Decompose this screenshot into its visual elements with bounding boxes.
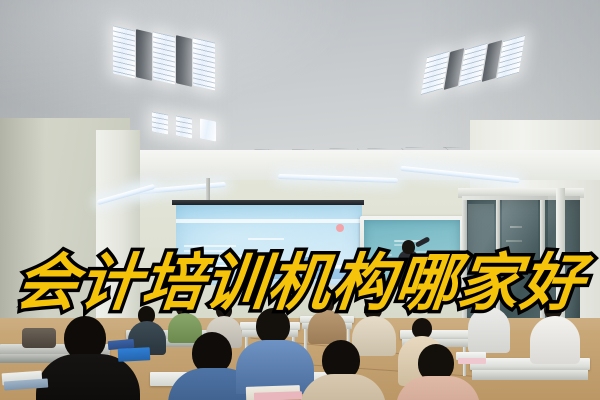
ceiling-light-panel	[193, 37, 215, 90]
ceiling-soffit	[130, 150, 600, 180]
overlay-glyph: 哪	[391, 252, 461, 314]
notebook	[458, 358, 486, 364]
overlay-glyph: 家	[454, 252, 524, 314]
ceiling-light-panel	[176, 115, 192, 138]
overlay-glyph: 会	[13, 252, 83, 314]
overlay-glyph: 好	[517, 252, 587, 314]
overlay-glyph: 训	[202, 252, 272, 314]
ceiling-light-gap	[176, 35, 192, 87]
overlay-title-text: 会计培训机构哪家好	[0, 252, 600, 314]
overlay-glyph: 计	[76, 252, 146, 314]
desk-front	[472, 370, 588, 380]
overlay-glyph: 构	[328, 252, 398, 314]
glass-interior-light	[506, 240, 522, 242]
ceiling-light-panel	[200, 118, 216, 141]
student-desk	[470, 358, 590, 400]
glass-interior-light	[510, 226, 522, 228]
notebook	[254, 391, 302, 400]
bag	[22, 328, 56, 348]
student-body	[530, 316, 580, 364]
ceiling-light-panel	[153, 31, 175, 84]
notebook	[118, 347, 151, 362]
screenshot-canvas: 会计培训机构哪家好	[0, 0, 600, 400]
student-body	[352, 316, 396, 356]
ceiling-light-gap	[136, 29, 152, 81]
overlay-glyph: 培	[139, 252, 209, 314]
ceiling-light-panel	[152, 111, 168, 134]
overlay-glyph: 机	[265, 252, 335, 314]
ceiling-light-panel	[113, 25, 135, 78]
